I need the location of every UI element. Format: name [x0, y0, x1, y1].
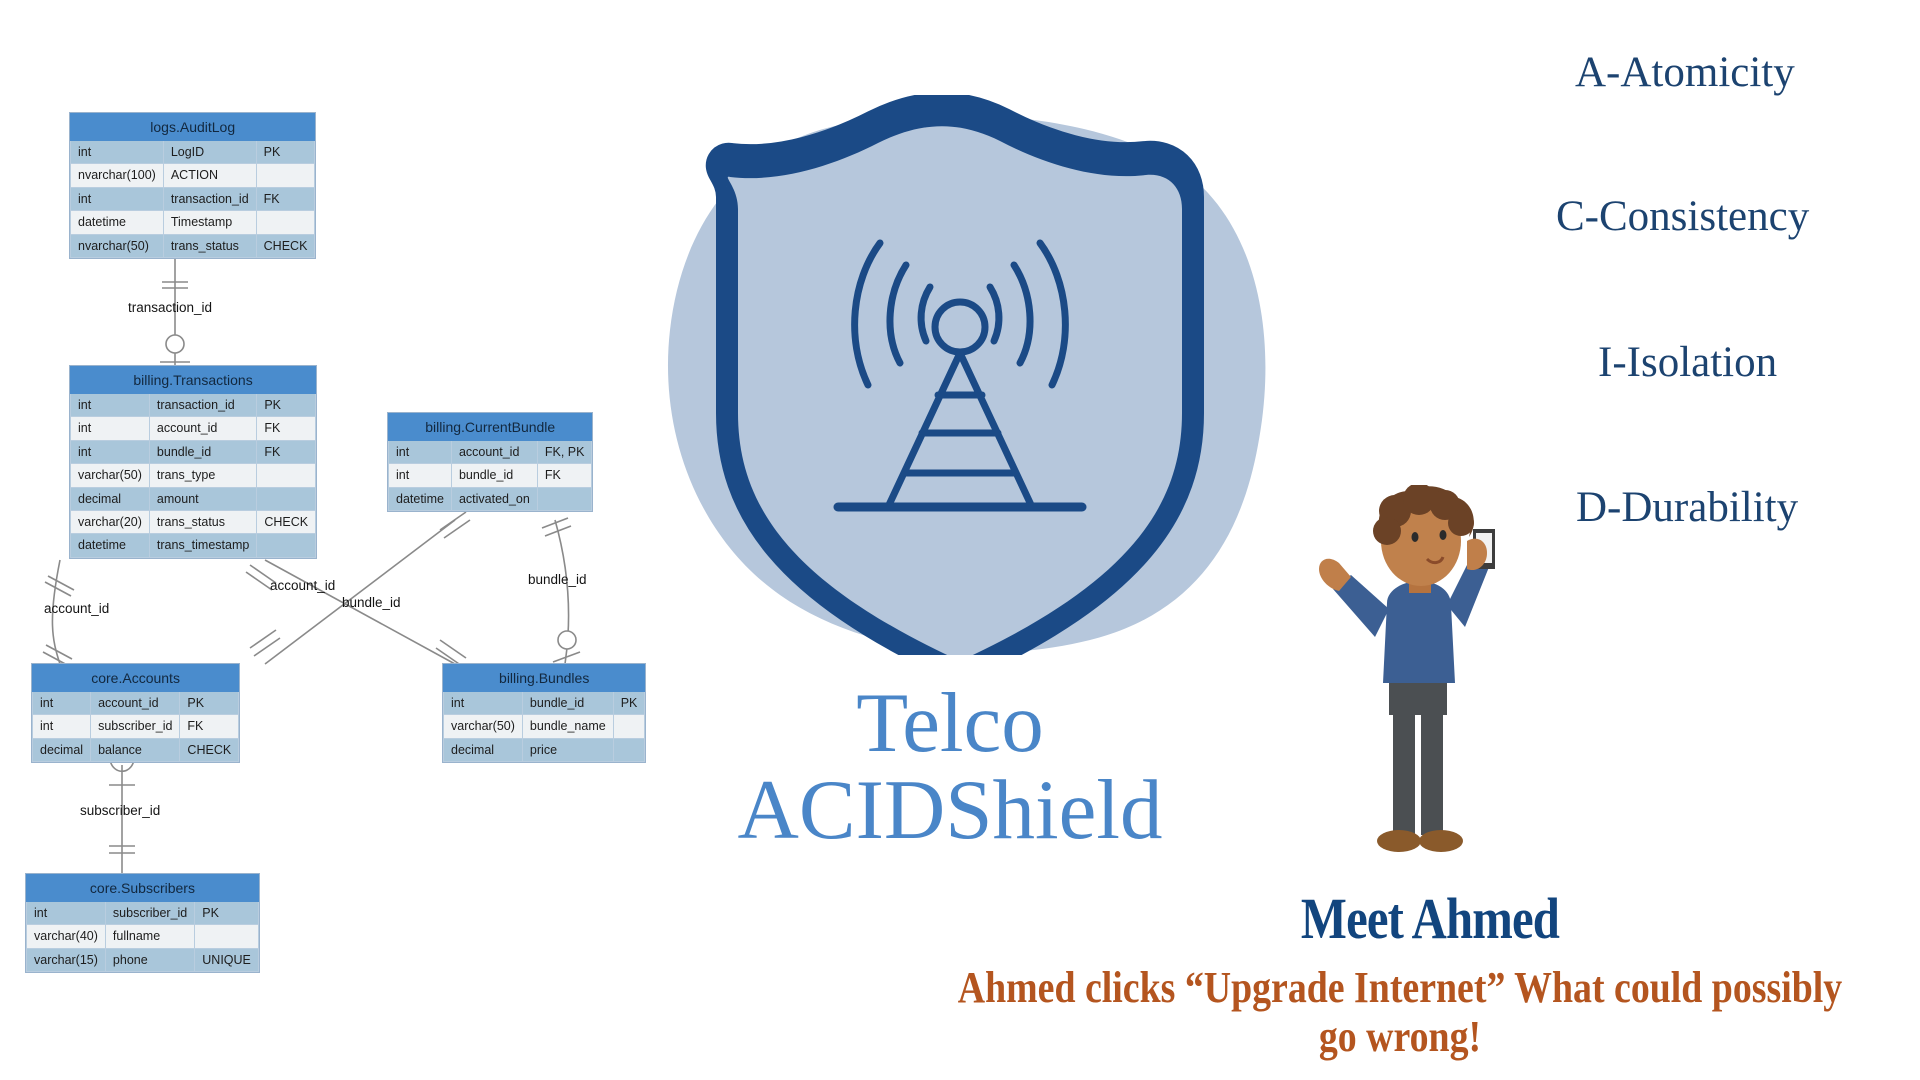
- table-row: varchar(40) fullname: [27, 925, 259, 948]
- cell-type: varchar(40): [27, 925, 106, 948]
- table-row: varchar(50) bundle_name: [444, 715, 645, 738]
- cell-name: bundle_name: [522, 715, 613, 738]
- cell-type: varchar(15): [27, 948, 106, 971]
- cell-name: bundle_id: [451, 464, 537, 487]
- table-row: int bundle_id FK: [389, 464, 592, 487]
- table-row: int transaction_id FK: [71, 187, 315, 210]
- table-row: varchar(50) trans_type: [71, 464, 316, 487]
- erd-table-title: core.Subscribers: [27, 875, 259, 902]
- edge-label-bundle-id-mid: bundle_id: [342, 595, 401, 610]
- cell-name: account_id: [91, 692, 180, 715]
- cell-type: int: [27, 902, 106, 925]
- cell-key: FK: [180, 715, 239, 738]
- cell-name: LogID: [163, 141, 256, 164]
- cell-name: trans_status: [163, 234, 256, 257]
- table-row: int subscriber_id PK: [27, 902, 259, 925]
- cell-type: int: [389, 441, 452, 464]
- slide-canvas: logs.AuditLog int LogID PK nvarchar(100)…: [0, 0, 1920, 1080]
- cell-type: int: [71, 394, 150, 417]
- table-row: nvarchar(100) ACTION: [71, 164, 315, 187]
- eye-right: [1440, 530, 1447, 540]
- cell-key: [257, 464, 316, 487]
- cell-name: account_id: [451, 441, 537, 464]
- erd-table-title: billing.Transactions: [71, 367, 316, 394]
- cell-key: FK: [537, 464, 592, 487]
- edge-label-bundle-id-right: bundle_id: [528, 572, 587, 587]
- table-row: varchar(20) trans_status CHECK: [71, 510, 316, 533]
- cell-type: int: [389, 464, 452, 487]
- cell-type: datetime: [71, 211, 164, 234]
- cell-name: ACTION: [163, 164, 256, 187]
- cell-name: subscriber_id: [105, 902, 194, 925]
- cell-key: CHECK: [180, 738, 239, 761]
- edge-label-subscriber-id: subscriber_id: [80, 803, 160, 818]
- edge-label-transaction-id: transaction_id: [128, 300, 212, 315]
- cell-type: int: [71, 417, 150, 440]
- cell-name: subscriber_id: [91, 715, 180, 738]
- cell-name: bundle_id: [522, 692, 613, 715]
- table-row: decimal balance CHECK: [33, 738, 239, 761]
- cell-type: nvarchar(50): [71, 234, 164, 257]
- cell-name: activated_on: [451, 487, 537, 510]
- cell-key: PK: [180, 692, 239, 715]
- cell-name: trans_status: [149, 510, 256, 533]
- table-row: varchar(15) phone UNIQUE: [27, 948, 259, 971]
- cell-name: fullname: [105, 925, 194, 948]
- cell-key: CHECK: [256, 234, 315, 257]
- brand-title-line1: Telco: [640, 680, 1260, 767]
- cell-type: nvarchar(100): [71, 164, 164, 187]
- edge-label-account-id-left: account_id: [44, 601, 109, 616]
- erd-table-title: billing.CurrentBundle: [389, 414, 592, 441]
- shield-icon: [630, 95, 1290, 655]
- cell-key: [195, 925, 259, 948]
- table-row: nvarchar(50) trans_status CHECK: [71, 234, 315, 257]
- eye-left: [1412, 532, 1419, 542]
- table-row: decimal price: [444, 738, 645, 761]
- table-row: int transaction_id PK: [71, 394, 316, 417]
- cell-type: int: [71, 440, 150, 463]
- cell-key: PK: [195, 902, 259, 925]
- erd-table-billing-currentbundle[interactable]: billing.CurrentBundle int account_id FK,…: [388, 413, 592, 511]
- person-on-phone-illustration: [1295, 485, 1515, 870]
- cell-type: int: [444, 692, 523, 715]
- brand-title-line2: ACIDShield: [640, 767, 1260, 854]
- cell-key: [256, 211, 315, 234]
- cell-name: Timestamp: [163, 211, 256, 234]
- cell-key: FK: [257, 417, 316, 440]
- cell-type: decimal: [71, 487, 150, 510]
- cell-name: trans_timestamp: [149, 534, 256, 557]
- cell-name: account_id: [149, 417, 256, 440]
- ahmed-caption: Ahmed clicks “Upgrade Internet” What cou…: [953, 963, 1847, 1062]
- cell-name: balance: [91, 738, 180, 761]
- cell-type: int: [33, 692, 91, 715]
- shoe-right: [1419, 830, 1463, 852]
- table-row: int LogID PK: [71, 141, 315, 164]
- cell-key: FK, PK: [537, 441, 592, 464]
- cell-key: CHECK: [257, 510, 316, 533]
- erd-table-billing-bundles[interactable]: billing.Bundles int bundle_id PK varchar…: [443, 664, 645, 762]
- cell-key: PK: [256, 141, 315, 164]
- cell-type: datetime: [389, 487, 452, 510]
- cell-type: int: [33, 715, 91, 738]
- table-row: datetime Timestamp: [71, 211, 315, 234]
- cell-key: PK: [257, 394, 316, 417]
- meet-ahmed-heading: Meet Ahmed: [1153, 885, 1707, 952]
- cell-key: [537, 487, 592, 510]
- table-row: int bundle_id FK: [71, 440, 316, 463]
- table-row: int account_id FK: [71, 417, 316, 440]
- table-row: int account_id PK: [33, 692, 239, 715]
- acid-item-durability: D-Durability: [1576, 483, 1798, 532]
- cell-key: FK: [257, 440, 316, 463]
- table-row: datetime trans_timestamp: [71, 534, 316, 557]
- cell-type: varchar(50): [444, 715, 523, 738]
- cell-type: datetime: [71, 534, 150, 557]
- erd-table-title: core.Accounts: [33, 665, 239, 692]
- cell-type: varchar(20): [71, 510, 150, 533]
- cell-type: decimal: [444, 738, 523, 761]
- cell-type: varchar(50): [71, 464, 150, 487]
- cell-key: [256, 164, 315, 187]
- acid-item-isolation: I-Isolation: [1598, 338, 1777, 387]
- table-row: int bundle_id PK: [444, 692, 645, 715]
- brand-title: Telco ACIDShield: [640, 680, 1260, 853]
- cell-key: UNIQUE: [195, 948, 259, 971]
- edge-transactions-bundles: [265, 560, 455, 664]
- cell-key: [257, 487, 316, 510]
- torso-shirt: [1383, 581, 1455, 683]
- erd-table-logs-auditlog[interactable]: logs.AuditLog int LogID PK nvarchar(100)…: [70, 113, 315, 258]
- cell-name: phone: [105, 948, 194, 971]
- cell-name: price: [522, 738, 613, 761]
- shoe-left: [1377, 830, 1421, 852]
- erd-table-core-accounts[interactable]: core.Accounts int account_id PK int subs…: [32, 664, 239, 762]
- table-row: int account_id FK, PK: [389, 441, 592, 464]
- table-row: int subscriber_id FK: [33, 715, 239, 738]
- cell-name: transaction_id: [149, 394, 256, 417]
- cell-key: [257, 534, 316, 557]
- erd-table-title: billing.Bundles: [444, 665, 645, 692]
- table-row: datetime activated_on: [389, 487, 592, 510]
- cell-type: decimal: [33, 738, 91, 761]
- erd-table-billing-transactions[interactable]: billing.Transactions int transaction_id …: [70, 366, 316, 558]
- edge-label-account-id-mid: account_id: [270, 578, 335, 593]
- erd-table-title: logs.AuditLog: [71, 114, 315, 141]
- cell-name: bundle_id: [149, 440, 256, 463]
- cell-type: int: [71, 141, 164, 164]
- acid-item-consistency: C-Consistency: [1556, 192, 1809, 241]
- cell-name: amount: [149, 487, 256, 510]
- cell-type: int: [71, 187, 164, 210]
- cell-name: transaction_id: [163, 187, 256, 210]
- cell-key: FK: [256, 187, 315, 210]
- acid-item-atomicity: A-Atomicity: [1575, 48, 1795, 97]
- erd-table-core-subscribers[interactable]: core.Subscribers int subscriber_id PK va…: [26, 874, 259, 972]
- table-row: decimal amount: [71, 487, 316, 510]
- cell-name: trans_type: [149, 464, 256, 487]
